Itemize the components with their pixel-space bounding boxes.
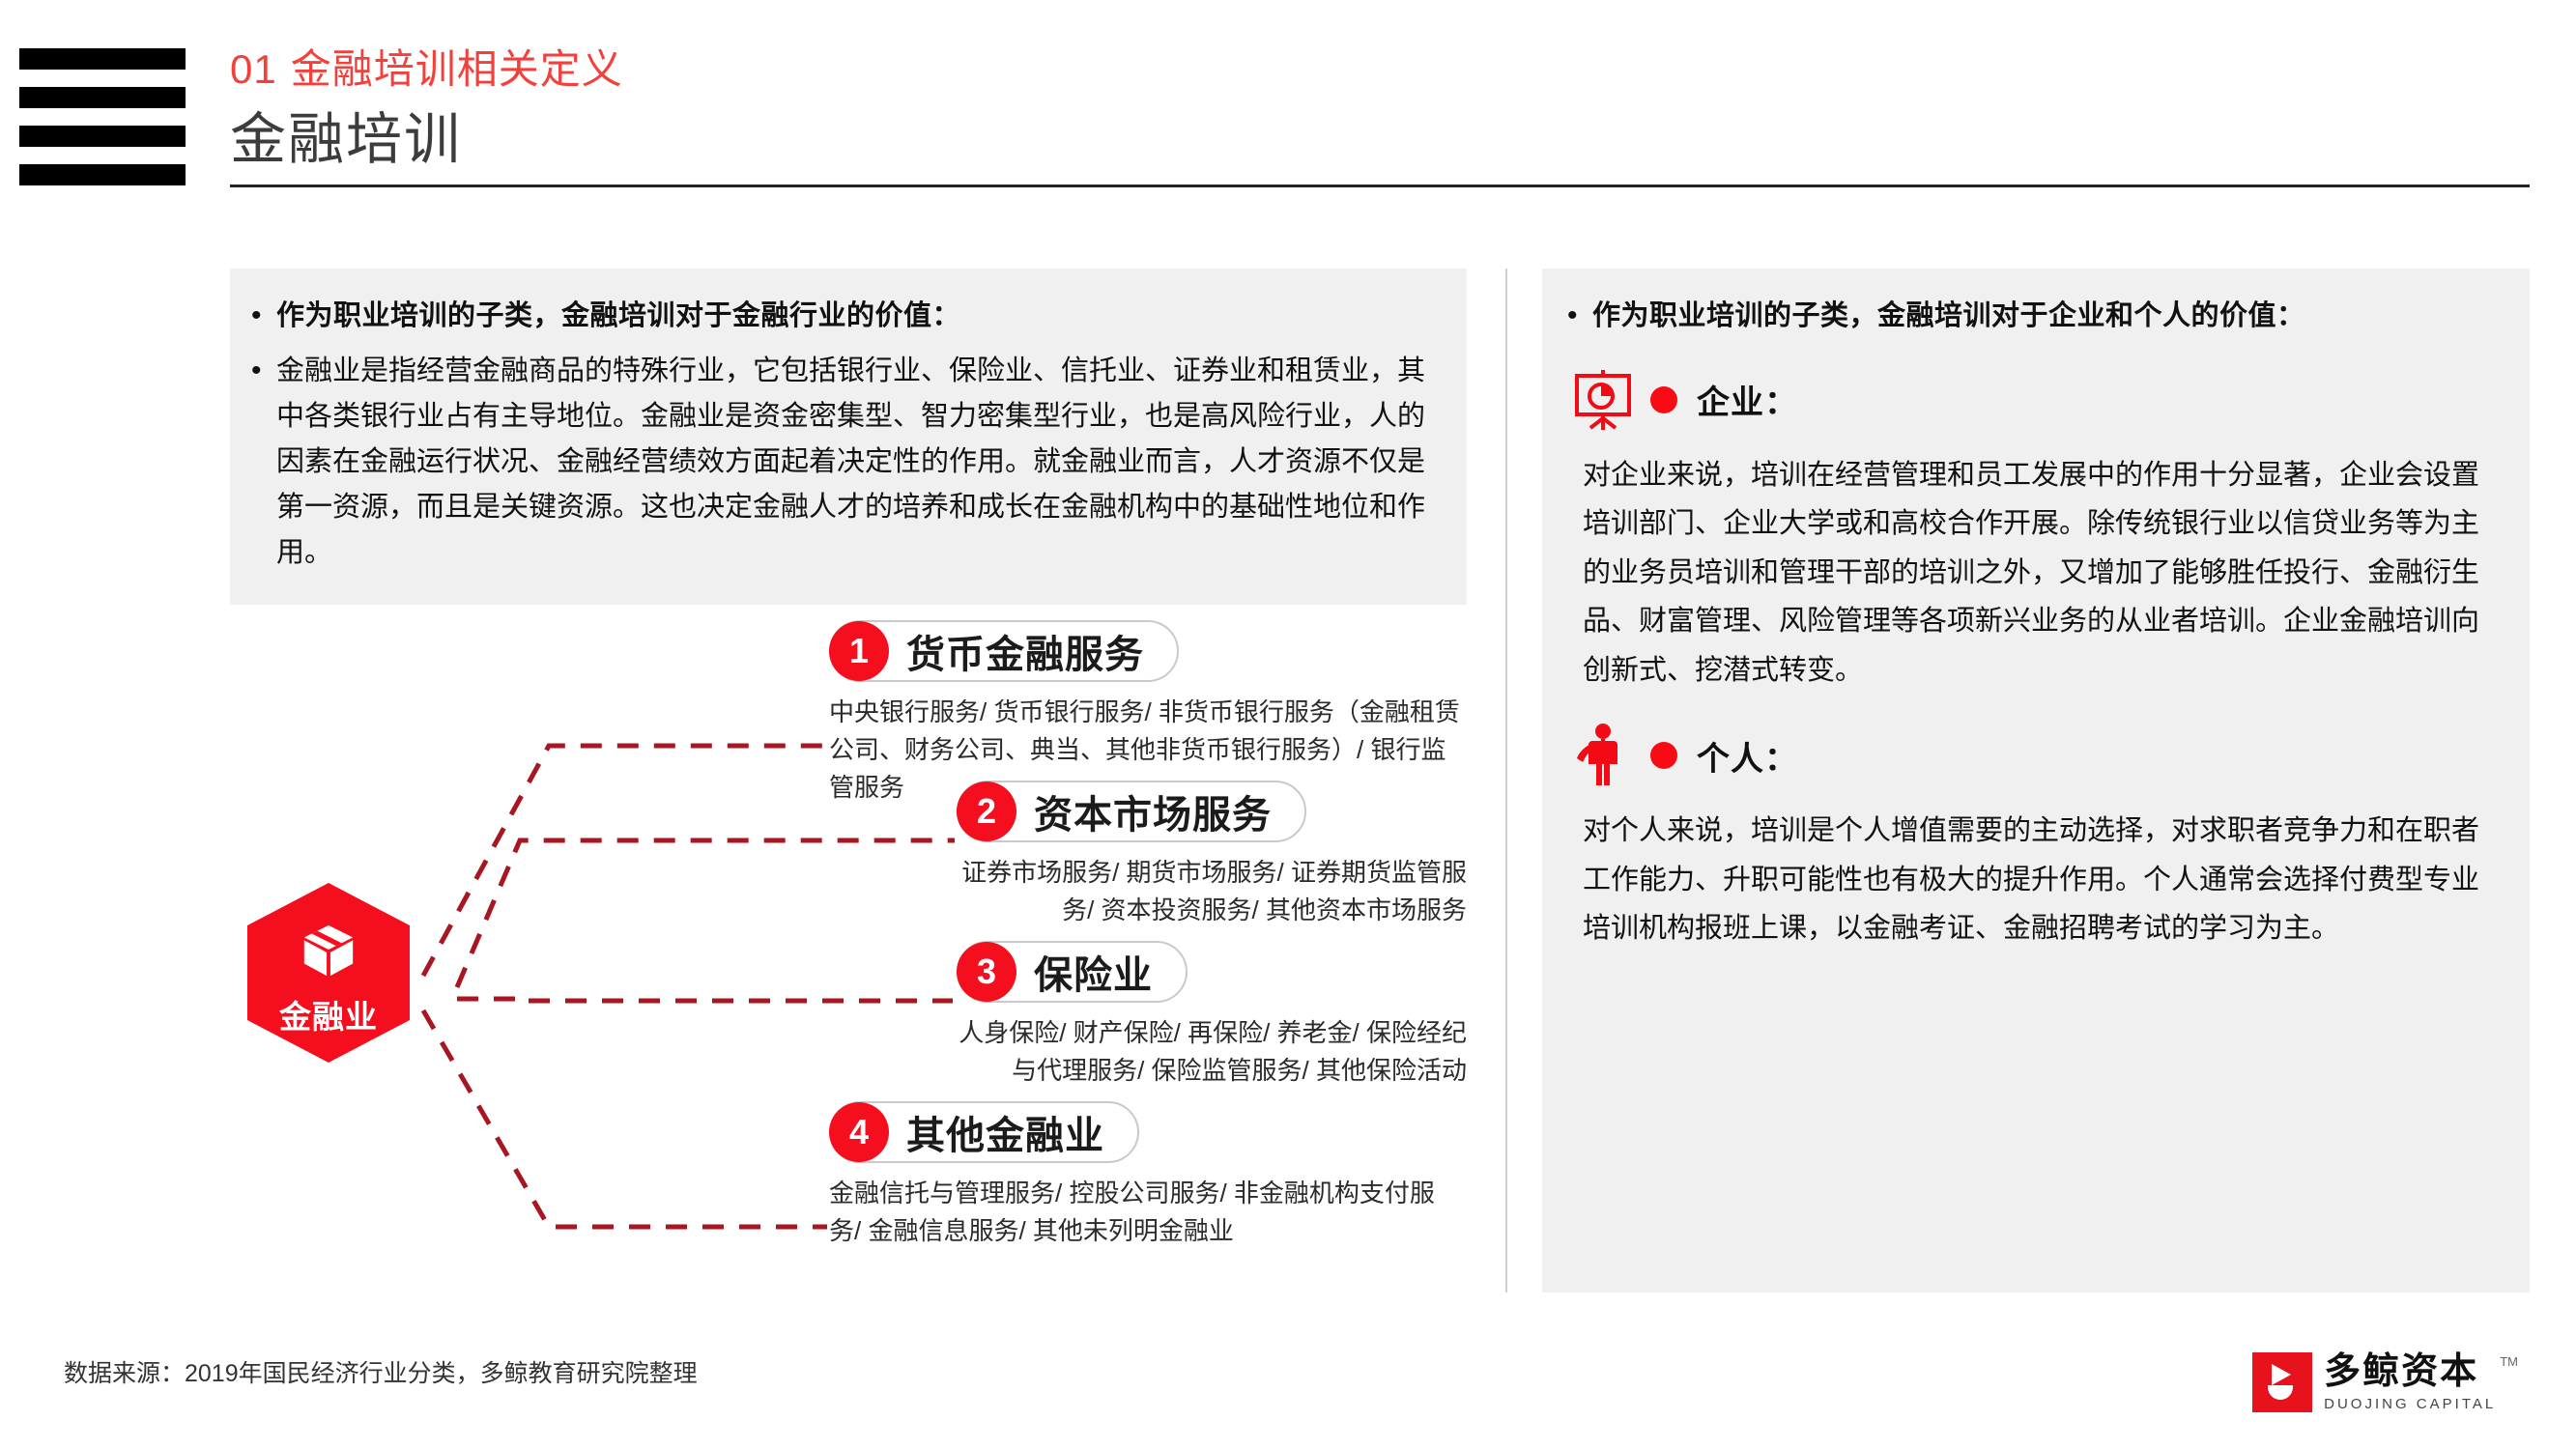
logo-name: 多鲸资本	[2324, 1353, 2496, 1390]
section-2-bullet-dot-icon	[1650, 742, 1677, 769]
left-column: • 作为职业培训的子类，金融培训对于金融行业的价值： • 金融业是指经营金融商品…	[230, 269, 1467, 1293]
header-bar-2	[19, 87, 186, 108]
left-bullet-1-text: 作为职业培训的子类，金融培训对于金融行业的价值：	[276, 294, 1434, 339]
right-grey-panel: • 作为职业培训的子类，金融培训对于企业和个人的价值：	[1542, 269, 2530, 1293]
left-bullet-2-text: 金融业是指经营金融商品的特殊行业，它包括银行业、保险业、信托业、证券业和租赁业，…	[276, 349, 1434, 576]
right-lead-text: 作为职业培训的子类，金融培训对于企业和个人的价值：	[1592, 294, 2305, 339]
header-bar-4	[19, 164, 186, 185]
node-4-number: 4	[829, 1102, 889, 1162]
node-3-number: 3	[957, 942, 1016, 1002]
header-bar-3	[19, 126, 186, 147]
node-1-number: 1	[829, 621, 889, 681]
node-1-title: 货币金融服务	[906, 623, 1144, 679]
right-lead-bullet: • 作为职业培训的子类，金融培训对于企业和个人的价值：	[1567, 294, 2501, 339]
diagram-node-1[interactable]: 1 货币金融服务 中央银行服务/ 货币银行服务/ 非货币银行服务（金融租赁公司、…	[829, 620, 1467, 807]
section-eyebrow-text: 金融培训相关定义	[291, 46, 623, 92]
node-2-desc: 证券市场服务/ 期货市场服务/ 证券期货监管服务/ 资本投资服务/ 其他资本市场…	[957, 854, 1467, 929]
content-columns: • 作为职业培训的子类，金融培训对于金融行业的价值： • 金融业是指经营金融商品…	[230, 269, 2530, 1293]
company-logo: 多鲸资本 DUOJING CAPITAL TM	[2252, 1352, 2518, 1412]
hub-hexagon: 金融业	[247, 883, 410, 1063]
right-section-2-head: 个人：	[1567, 720, 2501, 791]
bullet-dot-icon: •	[1567, 294, 1592, 339]
node-4-pill[interactable]: 4 其他金融业	[829, 1101, 1139, 1163]
node-2-pill[interactable]: 2 资本市场服务	[957, 781, 1306, 842]
right-column: • 作为职业培训的子类，金融培训对于企业和个人的价值：	[1542, 269, 2530, 1293]
diagram-node-4[interactable]: 4 其他金融业 金融信托与管理服务/ 控股公司服务/ 非金融机构支付服务/ 金融…	[829, 1101, 1467, 1250]
node-3-desc: 人身保险/ 财产保险/ 再保险/ 养老金/ 保险经纪与代理服务/ 保险监管服务/…	[957, 1014, 1467, 1090]
node-1-pill[interactable]: 1 货币金融服务	[829, 620, 1179, 682]
column-divider	[1505, 269, 1507, 1293]
bullet-dot-icon: •	[251, 294, 276, 339]
diagram-node-2[interactable]: 2 资本市场服务 证券市场服务/ 期货市场服务/ 证券期货监管服务/ 资本投资服…	[957, 781, 1467, 929]
slide-header: 01金融培训相关定义 金融培训	[230, 46, 2530, 187]
header-bars-decoration	[19, 48, 186, 185]
node-4-desc: 金融信托与管理服务/ 控股公司服务/ 非金融机构支付服务/ 金融信息服务/ 其他…	[829, 1175, 1467, 1250]
right-section-1-head: 企业：	[1567, 364, 2501, 436]
hub-label: 金融业	[247, 991, 410, 1037]
section-eyebrow: 01金融培训相关定义	[230, 46, 2530, 93]
node-2-title: 资本市场服务	[1034, 783, 1272, 839]
logo-text-block: 多鲸资本 DUOJING CAPITAL	[2324, 1353, 2496, 1412]
person-icon	[1567, 720, 1639, 791]
right-section-1-label: 企业：	[1697, 376, 1798, 423]
right-section-2-body: 对个人来说，培训是个人增值需要的主动选择，对求职者竞争力和在职者工作能力、升职可…	[1567, 807, 2501, 952]
finance-industry-diagram: 金融业 1 货币金融服务 中央银行服务/ 货币银行服务/ 非货币银行服务（金融租…	[230, 620, 1467, 1296]
right-section-2-label: 个人：	[1697, 732, 1798, 780]
data-source-note: 数据来源：2019年国民经济行业分类，多鲸教育研究院整理	[64, 1354, 698, 1389]
section-1-bullet-dot-icon	[1650, 386, 1677, 413]
header-bar-1	[19, 48, 186, 70]
slide-root: 01金融培训相关定义 金融培训 • 作为职业培训的子类，金融培训对于金融行业的价…	[0, 0, 2576, 1449]
left-bullet-1: • 作为职业培训的子类，金融培训对于金融行业的价值：	[251, 294, 1434, 339]
whale-mark-icon	[2252, 1352, 2312, 1412]
bullet-dot-icon: •	[251, 349, 276, 394]
logo-subname: DUOJING CAPITAL	[2324, 1396, 2496, 1412]
header-rule	[230, 185, 2530, 187]
box-icon	[299, 920, 358, 980]
presentation-chart-icon	[1567, 364, 1639, 436]
left-grey-panel: • 作为职业培训的子类，金融培训对于金融行业的价值： • 金融业是指经营金融商品…	[230, 269, 1467, 605]
node-3-pill[interactable]: 3 保险业	[957, 941, 1188, 1003]
section-number: 01	[230, 46, 277, 92]
right-section-1-body: 对企业来说，培训在经营管理和员工发展中的作用十分显著，企业会设置培训部门、企业大…	[1567, 451, 2501, 695]
left-bullet-2: • 金融业是指经营金融商品的特殊行业，它包括银行业、保险业、信托业、证券业和租赁…	[251, 349, 1434, 576]
trademark-symbol: TM	[2500, 1354, 2518, 1369]
node-3-title: 保险业	[1034, 944, 1153, 1000]
diagram-node-3[interactable]: 3 保险业 人身保险/ 财产保险/ 再保险/ 养老金/ 保险经纪与代理服务/ 保…	[957, 941, 1467, 1090]
page-title: 金融培训	[230, 108, 2530, 173]
node-4-title: 其他金融业	[906, 1104, 1104, 1160]
node-2-number: 2	[957, 781, 1016, 841]
